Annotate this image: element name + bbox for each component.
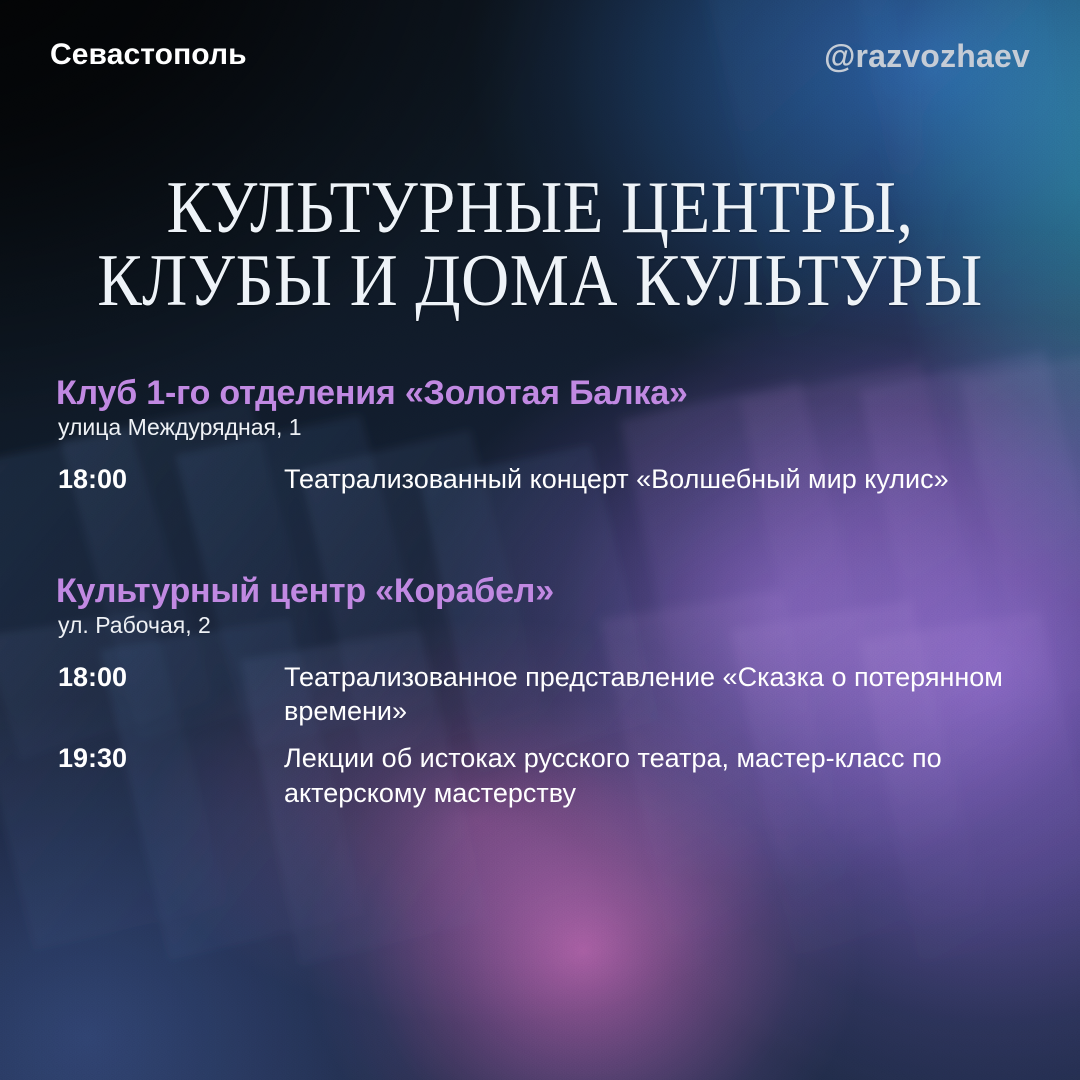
venue-address: ул. Рабочая, 2 [58, 612, 1040, 640]
event-title: Театрализованный концерт «Волшебный мир … [284, 462, 1004, 497]
event-title: Лекции об истоках русского театра, масте… [284, 741, 1004, 810]
poster-content: Севастополь @razvozhaev КУЛЬТУРНЫЕ ЦЕНТР… [0, 0, 1080, 1080]
event-time: 18:00 [56, 462, 284, 497]
topbar: Севастополь @razvozhaev [50, 40, 1030, 72]
poster-canvas: Севастополь @razvozhaev КУЛЬТУРНЫЕ ЦЕНТР… [0, 0, 1080, 1080]
city-label: Севастополь [50, 40, 247, 70]
page-title-line-1: КУЛЬТУРНЫЕ ЦЕНТРЫ, [54, 172, 1026, 245]
event-row: 18:00 Театрализованное представление «Ск… [56, 660, 1040, 729]
schedule-list: Клуб 1-го отделения «Золотая Балка» улиц… [56, 374, 1040, 822]
venue-block: Культурный центр «Корабел» ул. Рабочая, … [56, 572, 1040, 810]
social-handle: @razvozhaev [824, 40, 1030, 72]
venue-block: Клуб 1-го отделения «Золотая Балка» улиц… [56, 374, 1040, 496]
event-time: 19:30 [56, 741, 284, 776]
event-title: Театрализованное представление «Сказка о… [284, 660, 1004, 729]
venue-name: Клуб 1-го отделения «Золотая Балка» [56, 374, 1040, 412]
event-time: 18:00 [56, 660, 284, 695]
event-row: 19:30 Лекции об истоках русского театра,… [56, 741, 1040, 810]
venue-address: улица Междурядная, 1 [58, 414, 1040, 442]
page-title: КУЛЬТУРНЫЕ ЦЕНТРЫ, КЛУБЫ И ДОМА КУЛЬТУРЫ [54, 172, 1026, 317]
event-row: 18:00 Театрализованный концерт «Волшебны… [56, 462, 1040, 497]
venue-name: Культурный центр «Корабел» [56, 572, 1040, 610]
page-title-line-2: КЛУБЫ И ДОМА КУЛЬТУРЫ [54, 245, 1026, 318]
